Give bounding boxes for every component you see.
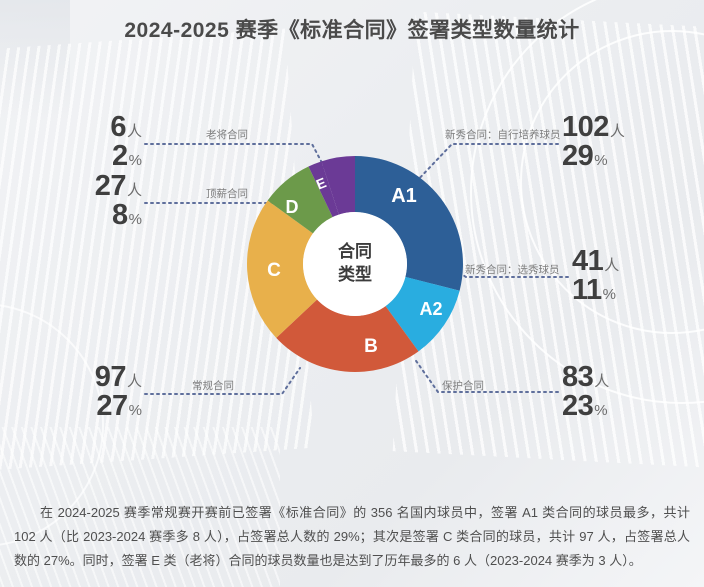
callout-c-count-unit: 人 bbox=[127, 373, 142, 390]
page-title: 2024-2025 赛季《标准合同》签署类型数量统计 bbox=[0, 14, 704, 44]
donut-center-line-2: 类型 bbox=[243, 264, 467, 287]
donut-chart: A1 A2 B C D E 合同 类型 bbox=[243, 152, 467, 376]
callout-a2-count-line: 41人 bbox=[572, 248, 704, 276]
callout-a2-percent-unit: % bbox=[603, 286, 616, 303]
callout-a1-percent-line: 29% bbox=[562, 142, 704, 172]
callout-a2-count-unit: 人 bbox=[604, 257, 619, 274]
donut-slice-label-a1: A1 bbox=[391, 185, 417, 207]
callout-c: 97人 27% bbox=[0, 364, 142, 421]
callout-b-percent-unit: % bbox=[594, 402, 607, 419]
callout-e-percent-unit: % bbox=[129, 152, 142, 169]
callout-d-category: 顶薪合同 bbox=[206, 186, 248, 201]
callout-d-count: 27 bbox=[95, 170, 126, 202]
callout-b-percent-line: 23% bbox=[562, 392, 704, 422]
callout-d-percent-line: 8% bbox=[0, 201, 142, 231]
callout-a1-percent: 29 bbox=[562, 140, 593, 172]
callout-e: 6人 2% bbox=[0, 114, 142, 171]
callout-a1-count: 102 bbox=[562, 111, 609, 143]
callout-e-count-line: 6人 bbox=[0, 114, 142, 142]
decorative-arc-2 bbox=[470, 0, 704, 404]
callout-a2: 41人 11% bbox=[572, 248, 704, 305]
callout-c-category: 常规合同 bbox=[192, 378, 234, 393]
callout-c-percent: 27 bbox=[96, 390, 127, 422]
callout-d-count-line: 27人 bbox=[0, 173, 142, 201]
callout-a2-category: 新秀合同：选秀球员 bbox=[465, 262, 560, 277]
callout-b-count: 83 bbox=[562, 361, 593, 393]
donut-slice-label-b: B bbox=[364, 336, 378, 357]
callout-d: 27人 8% bbox=[0, 173, 142, 230]
callout-b-percent: 23 bbox=[562, 390, 593, 422]
callout-b: 83人 23% bbox=[562, 364, 704, 421]
callout-a1-count-line: 102人 bbox=[562, 114, 704, 142]
callout-e-percent: 2 bbox=[112, 140, 128, 172]
callout-a1-percent-unit: % bbox=[594, 152, 607, 169]
donut-center-line-1: 合同 bbox=[243, 241, 467, 264]
callout-c-count-line: 97人 bbox=[0, 364, 142, 392]
callout-e-count-unit: 人 bbox=[127, 123, 142, 140]
callout-a1-count-unit: 人 bbox=[610, 123, 625, 140]
callout-a2-count: 41 bbox=[572, 245, 603, 277]
callout-c-count: 97 bbox=[95, 361, 126, 393]
callout-c-percent-unit: % bbox=[129, 402, 142, 419]
callout-a2-percent-line: 11% bbox=[572, 276, 704, 306]
callout-d-count-unit: 人 bbox=[127, 182, 142, 199]
callout-d-percent: 8 bbox=[112, 199, 128, 231]
callout-c-percent-line: 27% bbox=[0, 392, 142, 422]
callout-d-percent-unit: % bbox=[129, 211, 142, 228]
donut-slice-label-a2: A2 bbox=[419, 299, 442, 319]
infographic-canvas: 2024-2025 赛季《标准合同》签署类型数量统计 bbox=[0, 0, 704, 587]
callout-a2-percent: 11 bbox=[572, 274, 602, 306]
callout-a1-category: 新秀合同：自行培养球员 bbox=[445, 127, 561, 142]
callout-e-category: 老将合同 bbox=[206, 127, 248, 142]
summary-paragraph: 在 2024-2025 赛季常规赛开赛前已签署《标准合同》的 356 名国内球员… bbox=[14, 501, 690, 573]
callout-b-count-unit: 人 bbox=[594, 373, 609, 390]
callout-e-percent-line: 2% bbox=[0, 142, 142, 172]
donut-center-label: 合同 类型 bbox=[243, 241, 467, 287]
callout-b-category: 保护合同 bbox=[442, 378, 484, 393]
callout-e-count: 6 bbox=[110, 111, 126, 143]
callout-b-count-line: 83人 bbox=[562, 364, 704, 392]
donut-slice-label-d: D bbox=[286, 197, 299, 217]
callout-a1: 102人 29% bbox=[562, 114, 704, 171]
